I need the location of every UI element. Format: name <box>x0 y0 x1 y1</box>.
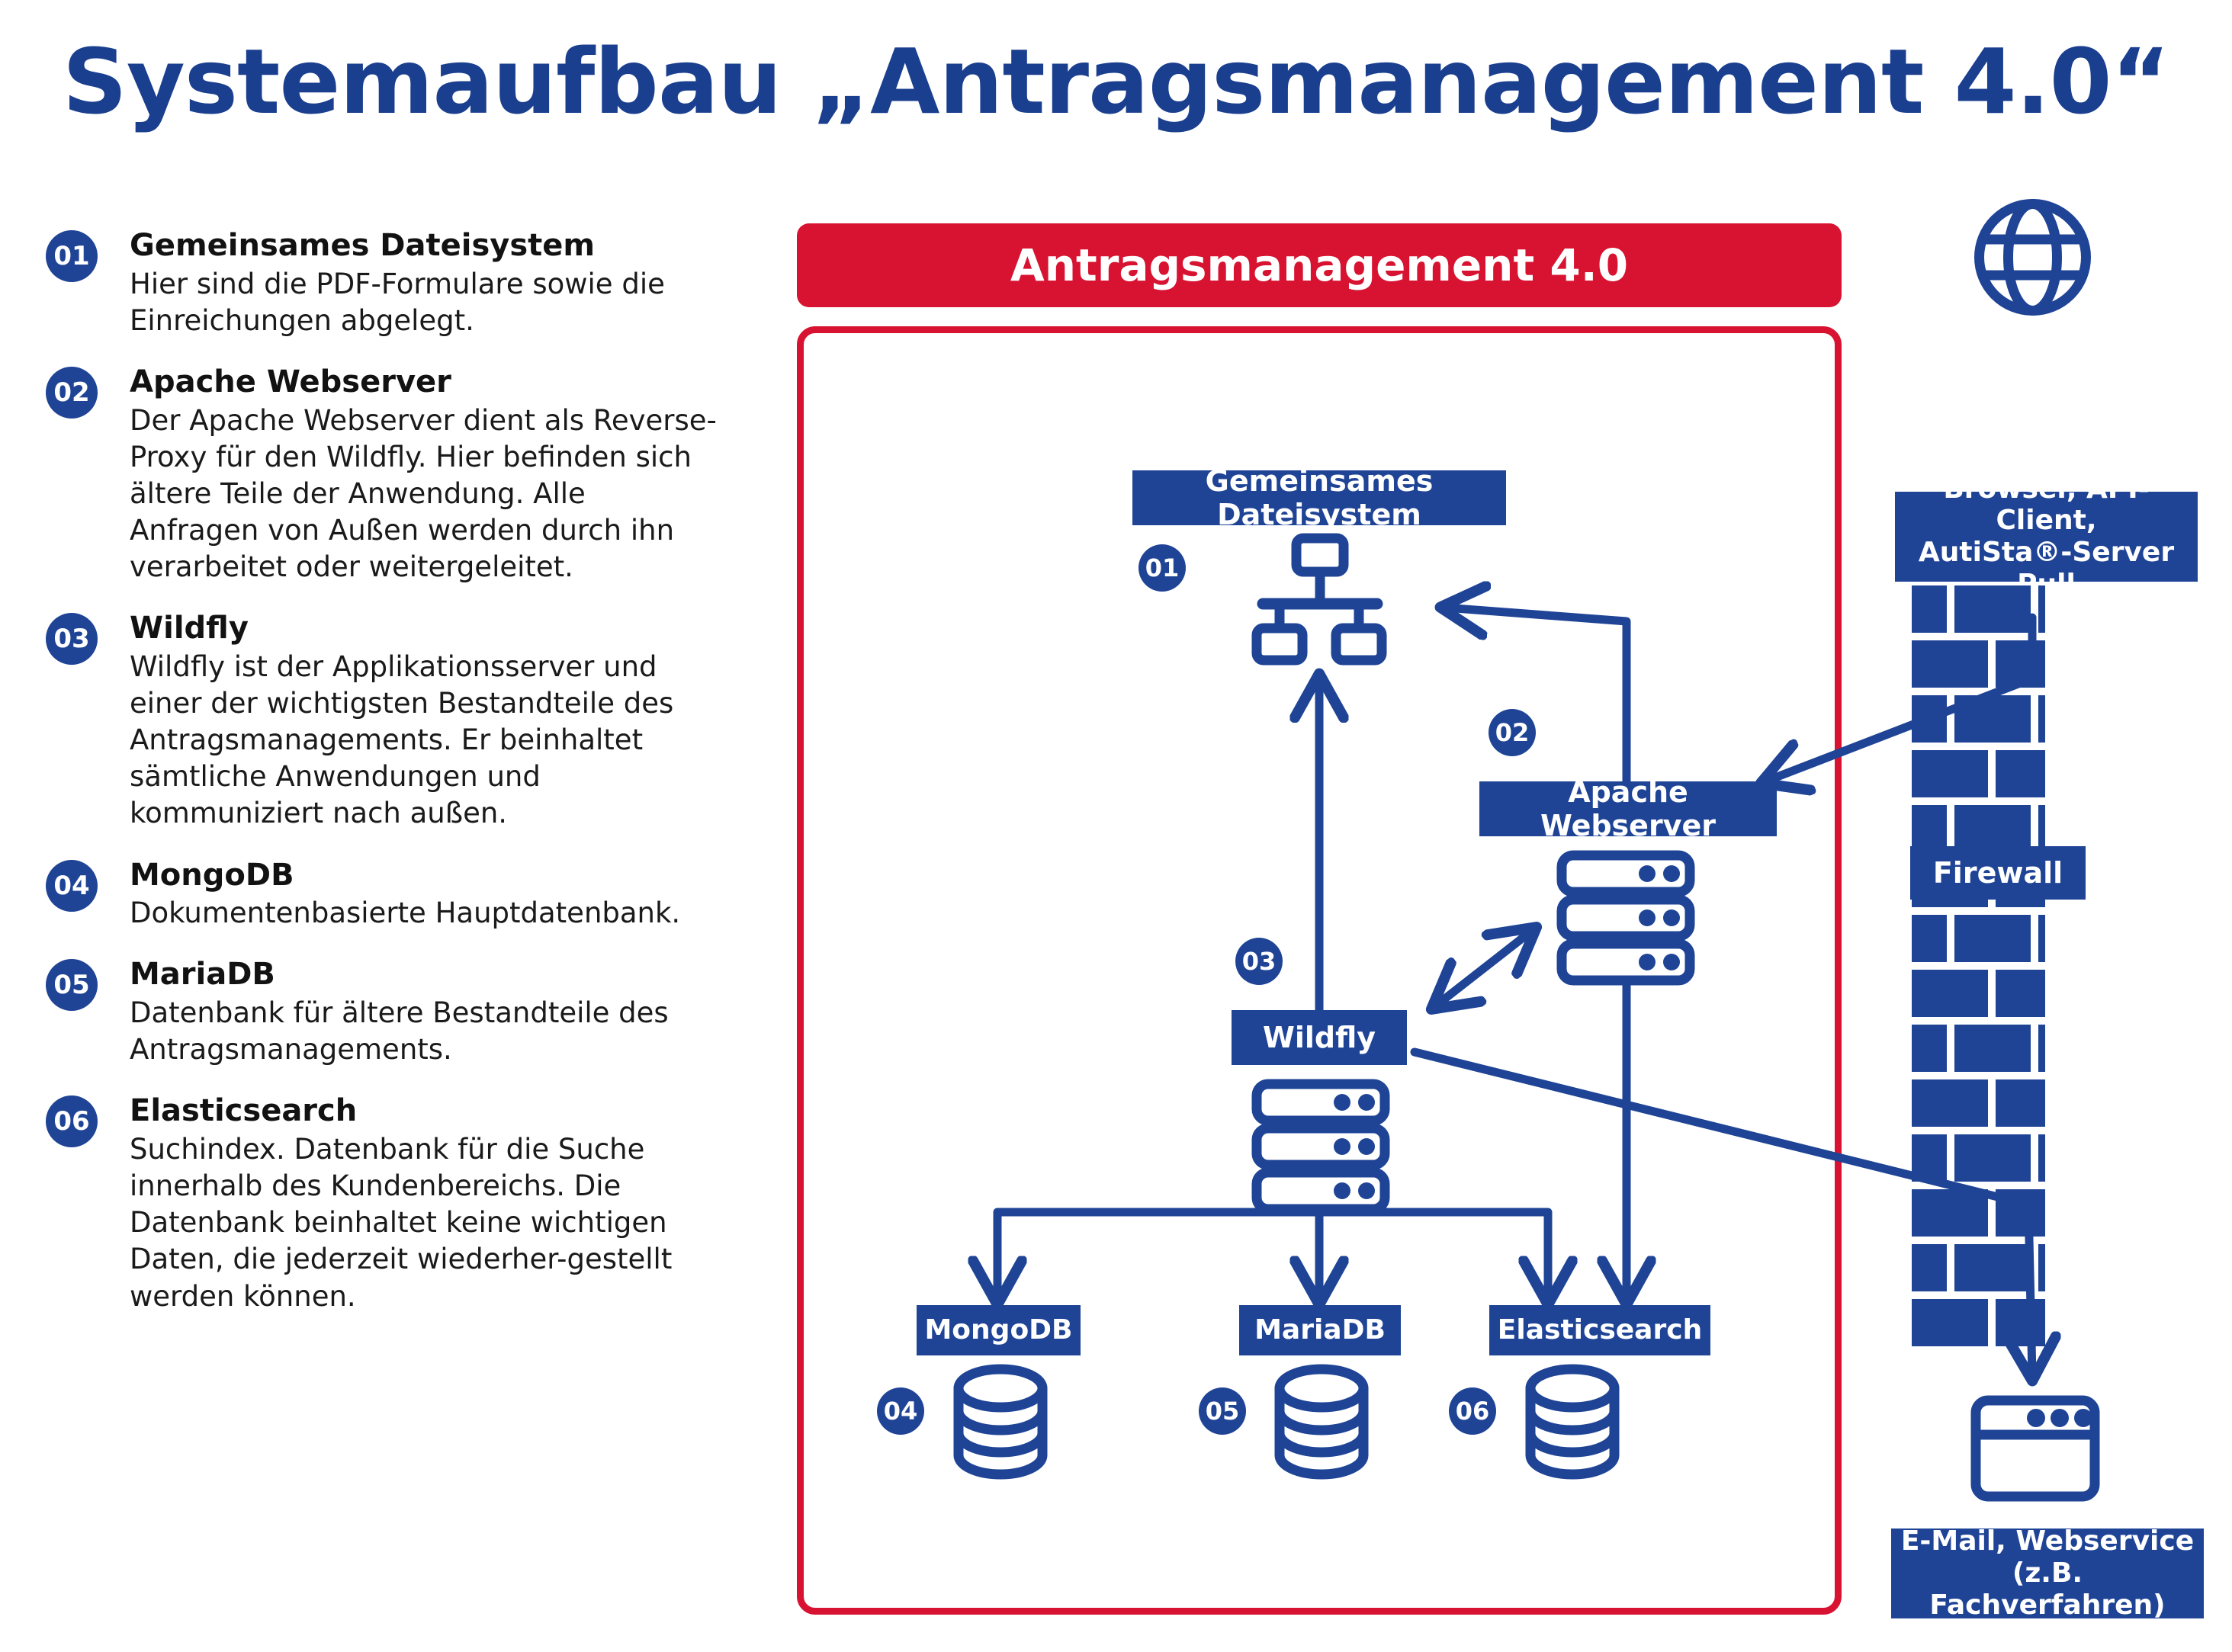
legend-item-mariadb: 05 MariaDB Datenbank für ältere Bestandt… <box>46 958 717 1068</box>
node-elasticsearch-badge: 06 <box>1449 1387 1496 1435</box>
network-filesystem-icon <box>1243 534 1395 667</box>
database-cylinder-icon-elasticsearch <box>1519 1365 1626 1479</box>
browser-window-icon <box>1970 1395 2100 1502</box>
node-wildfly-label-text: Wildfly <box>1263 1021 1376 1054</box>
node-mariadb-label-text: MariaDB <box>1254 1314 1386 1346</box>
node-filesystem-label-text: Gemeinsames Dateisystem <box>1132 464 1506 531</box>
legend-title-04: MongoDB <box>130 858 717 893</box>
architecture-diagram: Antragsmanagement 4.0 <box>778 221 2227 1647</box>
database-cylinder-icon-mongodb <box>947 1365 1054 1479</box>
node-client-label[interactable]: Browser, API-Client, AutiSta®-Server Pul… <box>1895 492 2198 582</box>
node-email-label[interactable]: E-Mail, Webservice (z.B. Fachverfahren) <box>1891 1529 2204 1618</box>
legend-badge-05: 05 <box>46 959 98 1011</box>
legend-item-gemeinsames-dateisystem: 01 Gemeinsames Dateisystem Hier sind die… <box>46 229 717 339</box>
node-email-label-text: E-Mail, Webservice (z.B. Fachverfahren) <box>1896 1525 2199 1621</box>
node-filesystem-label[interactable]: Gemeinsames Dateisystem <box>1132 470 1506 525</box>
panel-header: Antragsmanagement 4.0 <box>797 223 1842 307</box>
legend-item-mongodb: 04 MongoDB Dokumentenbasierte Hauptdaten… <box>46 858 717 932</box>
database-cylinder-icon-mariadb <box>1268 1365 1375 1479</box>
legend-desc-06: Suchindex. Datenbank für die Suche inner… <box>130 1131 717 1314</box>
panel-header-label: Antragsmanagement 4.0 <box>1010 239 1628 291</box>
node-wildfly-label[interactable]: Wildfly <box>1232 1010 1407 1065</box>
node-wildfly-badge: 03 <box>1235 938 1283 985</box>
node-mariadb-badge: 05 <box>1199 1387 1246 1435</box>
legend-badge-03: 03 <box>46 613 98 665</box>
node-apache-label-text: Apache Webserver <box>1479 775 1777 842</box>
node-firewall-label-text: Firewall <box>1933 856 2063 890</box>
legend-item-apache-webserver: 02 Apache Webserver Der Apache Webserver… <box>46 365 717 585</box>
legend-desc-05: Datenbank für ältere Bestandteile des An… <box>130 995 717 1068</box>
server-rack-icon-apache <box>1556 851 1697 988</box>
legend-title-02: Apache Webserver <box>130 365 717 399</box>
node-firewall-label[interactable]: Firewall <box>1910 846 2086 900</box>
legend-title-05: MariaDB <box>130 958 717 992</box>
brick-wall-icon <box>1912 585 2045 1363</box>
node-elasticsearch-label-text: Elasticsearch <box>1498 1314 1702 1346</box>
legend-badge-04: 04 <box>46 860 98 912</box>
legend-item-wildfly: 03 Wildfly Wildfly ist der Applikationss… <box>46 611 717 832</box>
legend-desc-01: Hier sind die PDF-Formulare sowie die Ei… <box>130 266 717 339</box>
legend-desc-03: Wildfly ist der Applikationsserver und e… <box>130 649 717 832</box>
page-title: Systemaufbau „Antragsmanagement 4.0“ <box>0 29 2232 134</box>
legend-item-elasticsearch: 06 Elasticsearch Suchindex. Datenbank fü… <box>46 1094 717 1314</box>
legend-title-06: Elasticsearch <box>130 1094 717 1128</box>
node-filesystem-badge: 01 <box>1138 544 1186 592</box>
legend-badge-02: 02 <box>46 367 98 419</box>
node-apache-badge: 02 <box>1489 709 1536 756</box>
legend-title-01: Gemeinsames Dateisystem <box>130 229 717 263</box>
server-rack-icon-wildfly <box>1251 1079 1392 1217</box>
node-mongodb-badge: 04 <box>877 1387 924 1435</box>
node-client-label-text: Browser, API-Client, AutiSta®-Server Pul… <box>1900 473 2193 601</box>
legend-desc-04: Dokumentenbasierte Hauptdatenbank. <box>130 895 717 932</box>
legend-list: 01 Gemeinsames Dateisystem Hier sind die… <box>46 229 717 1341</box>
globe-icon <box>1973 198 2092 316</box>
legend-title-03: Wildfly <box>130 611 717 646</box>
node-mongodb-label[interactable]: MongoDB <box>917 1305 1081 1355</box>
node-mariadb-label[interactable]: MariaDB <box>1239 1305 1401 1355</box>
node-mongodb-label-text: MongoDB <box>924 1314 1072 1346</box>
legend-desc-02: Der Apache Webserver dient als Reverse-P… <box>130 403 717 585</box>
node-apache-label[interactable]: Apache Webserver <box>1479 781 1777 836</box>
legend-badge-01: 01 <box>46 230 98 282</box>
legend-badge-06: 06 <box>46 1095 98 1147</box>
node-elasticsearch-label[interactable]: Elasticsearch <box>1489 1305 1710 1355</box>
